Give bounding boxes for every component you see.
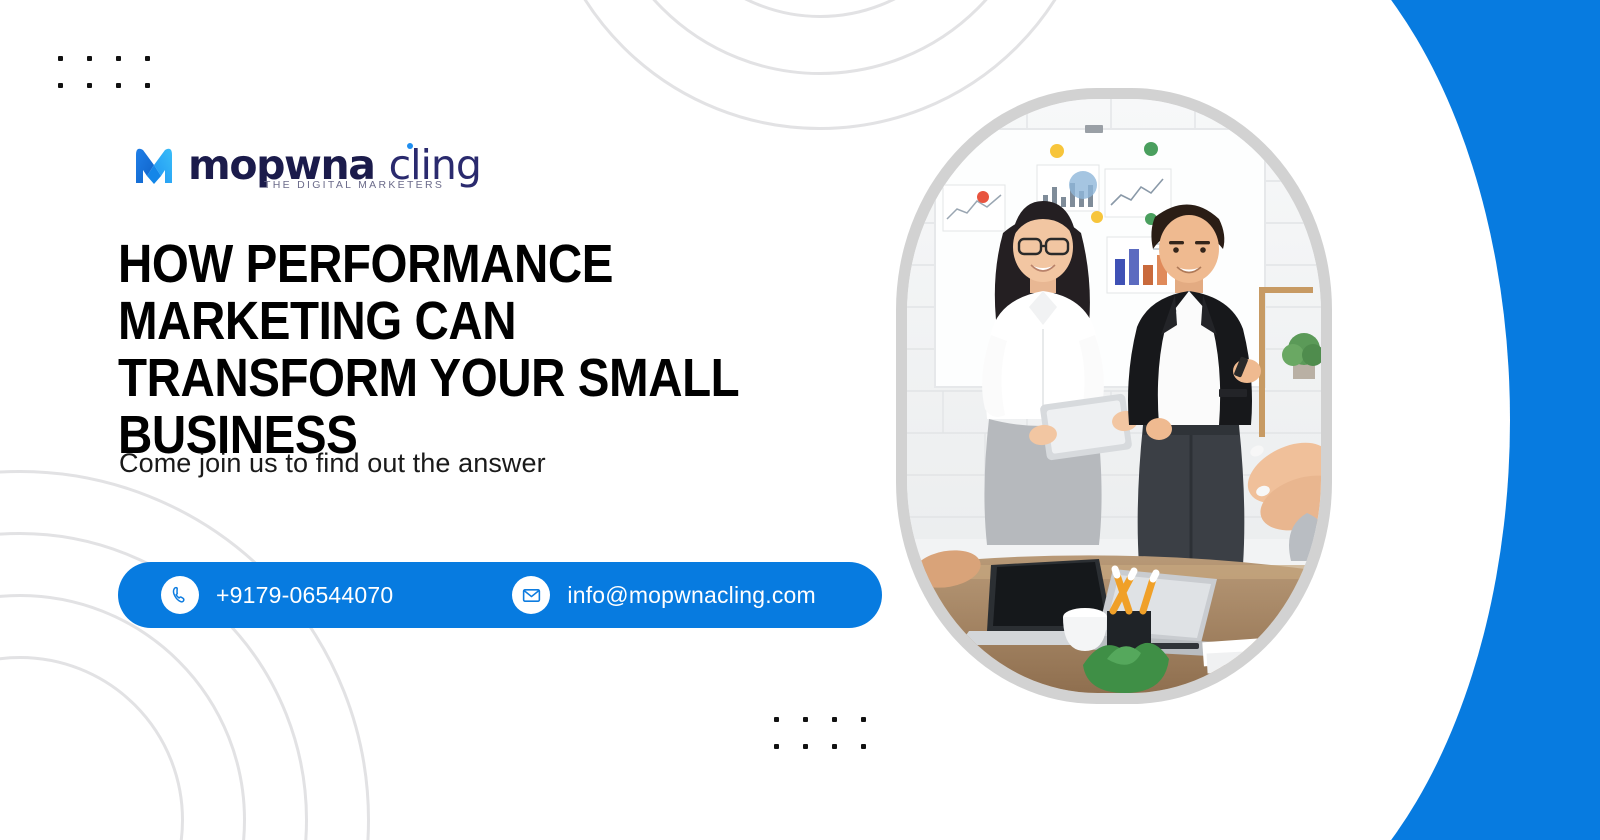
dot [58,56,63,61]
office-team-illustration [907,99,1321,693]
dot [87,56,92,61]
dot [58,83,63,88]
page-title: HOW PERFORMANCE MARKETING CAN TRANSFORM … [118,236,813,464]
hero-photo [907,99,1321,693]
page-subtitle: Come join us to find out the answer [119,448,546,479]
contact-phone[interactable]: +9179-06544070 [161,576,393,614]
email-address: info@mopwnacling.com [567,582,816,609]
brand-logo[interactable]: mopwna cling THE DIGITAL MARKETERS [132,143,481,187]
phone-number: +9179-06544070 [216,582,393,609]
flyer-canvas: mopwna cling THE DIGITAL MARKETERS HOW P… [0,0,1600,840]
brand-tagline: THE DIGITAL MARKETERS [264,179,444,191]
i-dot [407,143,413,149]
content-column: mopwna cling THE DIGITAL MARKETERS HOW P… [118,0,908,840]
dot [87,83,92,88]
contact-email[interactable]: info@mopwnacling.com [512,576,816,614]
mopwnacling-m-mark [132,143,176,187]
phone-handset-icon [161,576,199,614]
hero-photo-frame [896,88,1332,704]
envelope-icon [512,576,550,614]
contact-bar: +9179-06544070 info@mopwnacling.com [118,562,882,628]
